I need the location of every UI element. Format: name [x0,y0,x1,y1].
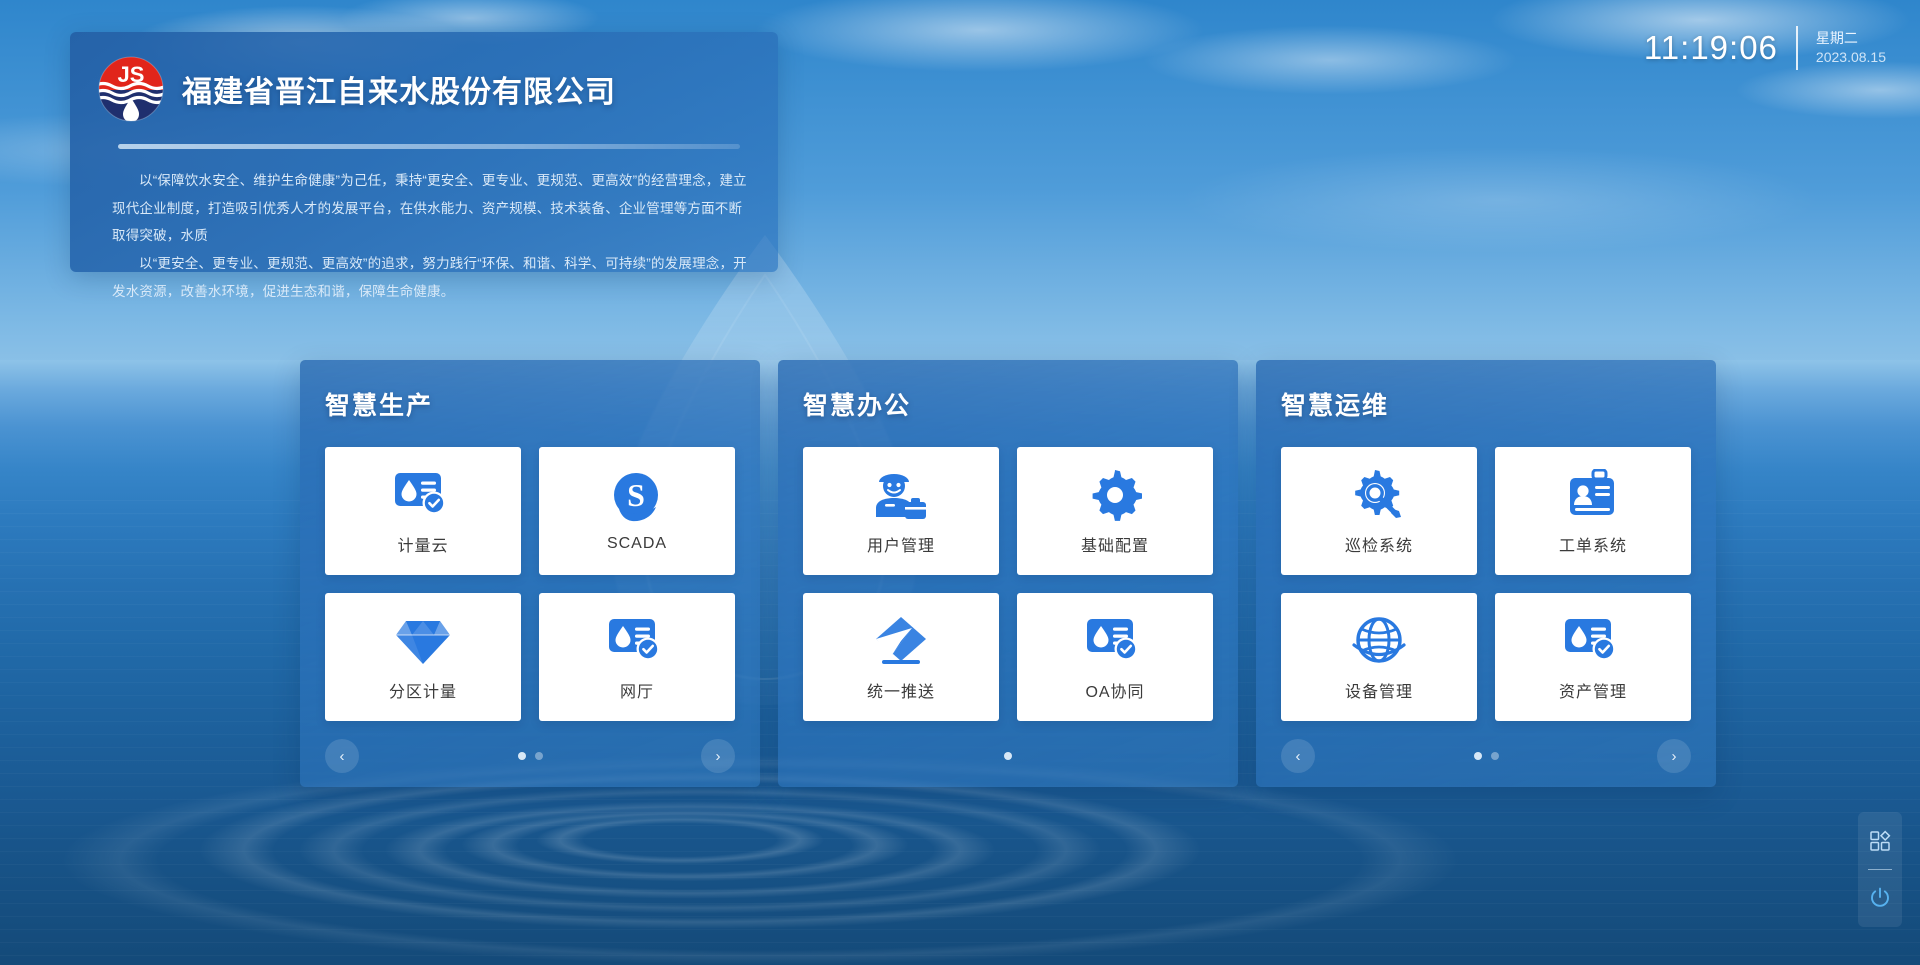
user-manager-icon [870,466,932,524]
carousel-next-button[interactable]: › [1657,739,1691,773]
carousel-controls [803,725,1213,787]
module-group-panel: 智慧办公 用户管理 基础配置 统一推送 [778,360,1238,787]
water-meter-card-icon [392,466,454,524]
company-about: 以“保障饮水安全、维护生命健康”为己任，秉持“更安全、更专业、更规范、更高效”的… [112,167,748,305]
module-group-panel: 智慧运维 巡检系统 工单系统 设备管理 [1256,360,1716,787]
globe-icon [1348,612,1410,670]
module-tile[interactable]: 工单系统 [1495,447,1691,575]
module-tile[interactable]: 资产管理 [1495,593,1691,721]
module-tile-grid: 巡检系统 工单系统 设备管理 资产管理 [1281,447,1691,721]
module-tile-label: 巡检系统 [1345,532,1413,556]
clock-divider [1796,26,1798,70]
current-weekday: 星期二 [1816,31,1886,46]
module-tile-label: 分区计量 [389,678,457,702]
module-tile[interactable]: OA协同 [1017,593,1213,721]
water-meter-card-icon [1562,612,1624,670]
module-tile[interactable]: 设备管理 [1281,593,1477,721]
carousel-dot[interactable] [1004,752,1012,760]
module-tile-grid: 计量云 S SCADA 分区计量 网厅 [325,447,735,721]
header-divider [118,144,740,149]
gear-wrench-inspect-icon [1348,466,1410,524]
current-date: 2023.08.15 [1816,50,1886,65]
gear-icon [1084,466,1146,524]
module-group-panel: 智慧生产 计量云 S SCADA 分区计量 [300,360,760,787]
module-tile[interactable]: 分区计量 [325,593,521,721]
dock-divider [1868,869,1892,870]
module-group-title: 智慧生产 [325,386,735,422]
module-tile-label: OA协同 [1085,678,1144,702]
scada-s-logo-icon: S [606,469,668,527]
company-name: 福建省晋江自来水股份有限公司 [182,67,616,111]
module-tile[interactable]: 基础配置 [1017,447,1213,575]
module-tile-label: 资产管理 [1559,678,1627,702]
module-tile-label: 统一推送 [867,678,935,702]
paper-plane-push-icon [870,612,932,670]
company-info-panel: JS 福建省晋江自来水股份有限公司 以“保障饮水安全、维护生命健康”为己任，秉持… [70,32,778,272]
carousel-next-button[interactable]: › [701,739,735,773]
apps-grid-icon[interactable] [1865,826,1895,856]
module-groups: 智慧生产 计量云 S SCADA 分区计量 [300,360,1716,787]
module-tile[interactable]: 巡检系统 [1281,447,1477,575]
water-meter-card-icon [606,612,668,670]
module-tile-grid: 用户管理 基础配置 统一推送 OA协同 [803,447,1213,721]
carousel-dots [518,752,543,760]
diamond-icon [392,612,454,670]
carousel-dot[interactable] [1474,752,1482,760]
module-tile-label: SCADA [607,535,667,553]
carousel-dot[interactable] [518,752,526,760]
about-paragraph-1: 以“保障饮水安全、维护生命健康”为己任，秉持“更安全、更专业、更规范、更高效”的… [112,167,748,250]
clock-widget: 11:19:06 星期二 2023.08.15 [1644,26,1886,70]
module-tile-label: 设备管理 [1345,678,1413,702]
carousel-prev-button[interactable]: ‹ [325,739,359,773]
about-paragraph-2: 以“更安全、更专业、更规范、更高效”的追求，努力践行“环保、和谐、科学、可持续”… [112,250,748,305]
module-tile-label: 用户管理 [867,532,935,556]
carousel-controls: ‹› [325,725,735,787]
current-time: 11:19:06 [1644,29,1778,67]
module-tile-label: 计量云 [397,532,448,556]
module-tile-label: 工单系统 [1559,532,1627,556]
svg-text:S: S [627,477,645,513]
side-dock [1858,812,1902,927]
water-meter-card-icon [1084,612,1146,670]
carousel-dots [1004,752,1012,760]
module-group-title: 智慧办公 [803,386,1213,422]
carousel-prev-button[interactable]: ‹ [1281,739,1315,773]
module-tile[interactable]: S SCADA [539,447,735,575]
brand: JS 福建省晋江自来水股份有限公司 [98,56,754,122]
carousel-controls: ‹› [1281,725,1691,787]
module-tile-label: 网厅 [620,678,654,702]
module-tile[interactable]: 计量云 [325,447,521,575]
module-tile[interactable]: 网厅 [539,593,735,721]
power-icon[interactable] [1865,883,1895,913]
carousel-dot[interactable] [535,752,543,760]
module-tile[interactable]: 用户管理 [803,447,999,575]
module-tile[interactable]: 统一推送 [803,593,999,721]
carousel-dot[interactable] [1491,752,1499,760]
id-badge-icon [1562,466,1624,524]
company-water-logo-icon: JS [98,56,164,122]
app-root: 11:19:06 星期二 2023.08.15 JS [0,0,1920,965]
carousel-dots [1474,752,1499,760]
module-tile-label: 基础配置 [1081,532,1149,556]
module-group-title: 智慧运维 [1281,386,1691,422]
